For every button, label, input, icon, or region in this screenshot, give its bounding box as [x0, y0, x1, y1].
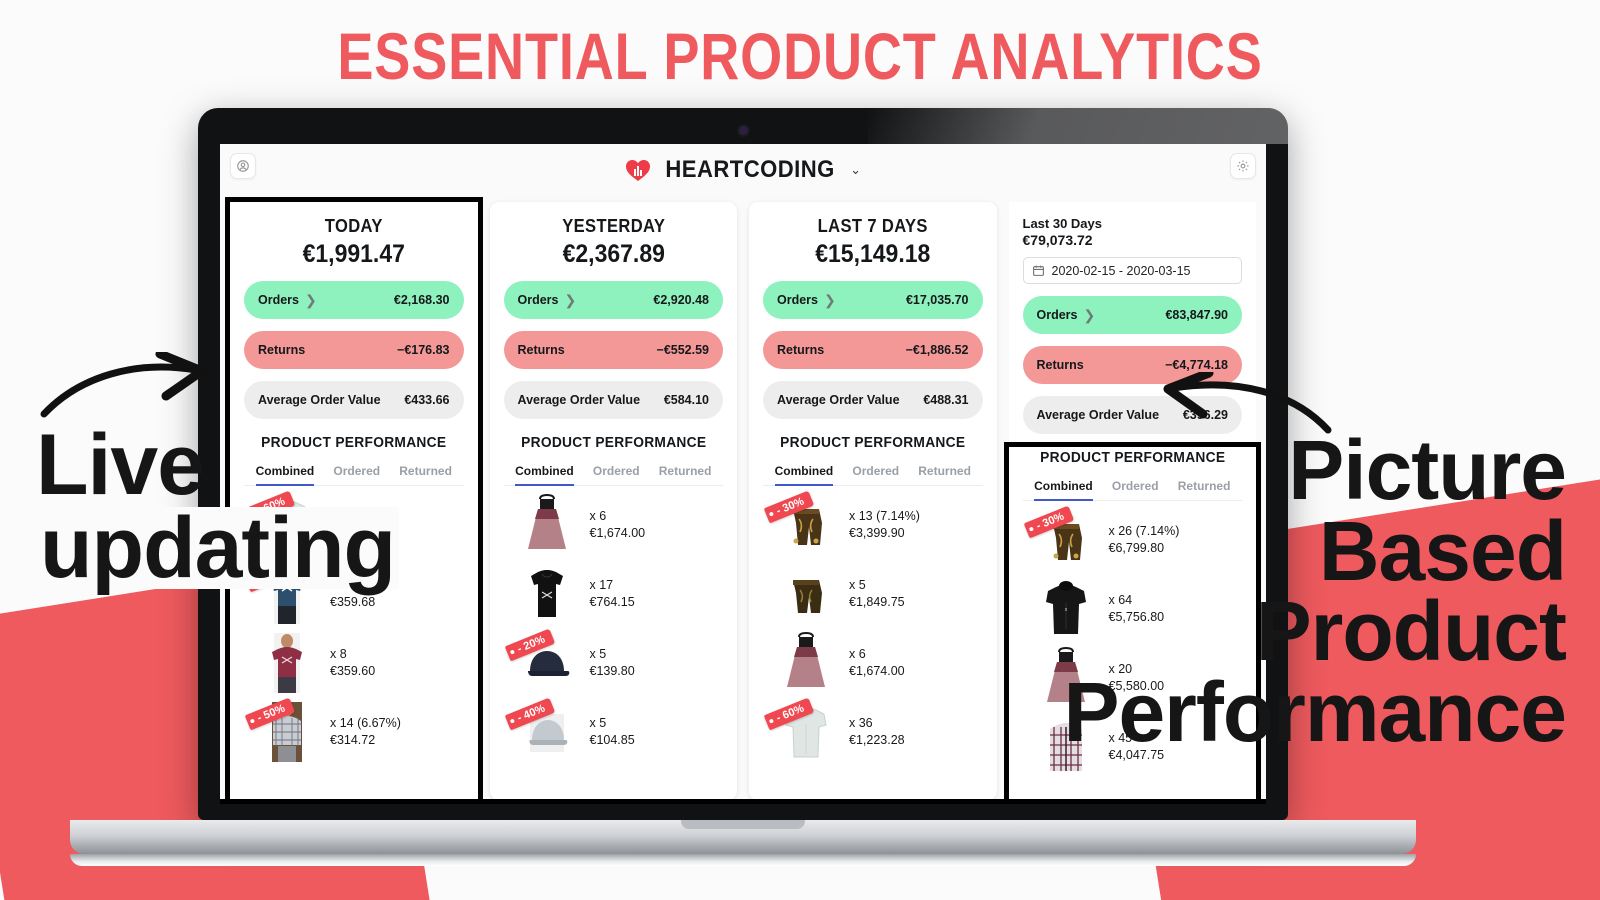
product-revenue: €359.68	[330, 594, 375, 611]
product-revenue: €3,399.90	[849, 525, 920, 542]
gear-icon[interactable]	[1230, 153, 1256, 179]
aov-label: Average Order Value	[777, 393, 900, 407]
product-revenue: €764.15	[590, 594, 635, 611]
card-header: TODAY€1,991.47	[244, 216, 464, 269]
card-header: Last 30 Days€79,073.722020-02-15 - 2020-…	[1023, 216, 1243, 284]
lid-glare	[868, 108, 1288, 144]
product-thumbnail	[763, 560, 849, 628]
tab-ordered[interactable]: Ordered	[852, 464, 899, 486]
annotation-right-line3: Product	[1063, 591, 1566, 672]
screen-bottom-edge	[220, 799, 1266, 804]
orders-stat-row[interactable]: Orders❯€2,168.30	[244, 281, 464, 319]
card-period-title: YESTERDAY	[512, 216, 714, 237]
card-period-total: €1,991.47	[253, 240, 455, 269]
product-quantity: x 17	[590, 577, 635, 594]
webcam-icon	[739, 126, 748, 135]
chevron-right-icon: ❯	[824, 292, 836, 309]
product-revenue: €359.60	[330, 663, 375, 680]
product-quantity: x 5	[590, 715, 635, 732]
product-quantity: x 13 (7.14%)	[849, 508, 920, 525]
product-row[interactable]: x 8€359.60	[244, 628, 464, 697]
aov-value: €488.31	[923, 393, 968, 407]
brand-name: HEARTCODING	[665, 156, 834, 184]
app-header: HEARTCODING ⌄	[220, 144, 1266, 196]
orders-value: €83,847.90	[1165, 308, 1228, 322]
chevron-right-icon: ❯	[565, 292, 577, 309]
returns-label: Returns	[777, 343, 824, 357]
orders-stat-row[interactable]: Orders❯€83,847.90	[1023, 296, 1243, 334]
tab-returned[interactable]: Returned	[918, 464, 971, 486]
card-period-title: LAST 7 DAYS	[772, 216, 974, 237]
aov-label: Average Order Value	[518, 393, 641, 407]
product-performance-tabs: CombinedOrderedReturned	[763, 464, 983, 486]
product-revenue: €1,849.75	[849, 594, 905, 611]
card-header: LAST 7 DAYS€15,149.18	[763, 216, 983, 269]
orders-stat-row[interactable]: Orders❯€17,035.70	[763, 281, 983, 319]
product-thumbnail	[763, 629, 849, 697]
product-quantity: x 6	[590, 508, 646, 525]
date-range-value: 2020-02-15 - 2020-03-15	[1052, 264, 1191, 278]
returns-label: Returns	[518, 343, 565, 357]
orders-value: €17,035.70	[906, 293, 969, 307]
aov-label: Average Order Value	[1037, 408, 1160, 422]
chevron-down-icon[interactable]: ⌄	[850, 162, 861, 178]
product-performance-title: PRODUCT PERFORMANCE	[768, 435, 977, 451]
product-row[interactable]: - 30%x 13 (7.14%)€3,399.90	[763, 490, 983, 559]
annotation-right-line4: Performance	[1063, 672, 1566, 753]
date-range-picker[interactable]: 2020-02-15 - 2020-03-15	[1023, 257, 1243, 284]
tab-ordered[interactable]: Ordered	[593, 464, 640, 486]
arrow-pointing-right-icon	[40, 352, 220, 422]
tab-returned[interactable]: Returned	[659, 464, 712, 486]
orders-value: €2,168.30	[394, 293, 450, 307]
laptop-base-foot	[70, 854, 1416, 866]
returns-stat-row[interactable]: Returns−€552.59	[504, 331, 724, 369]
card-header: YESTERDAY€2,367.89	[504, 216, 724, 269]
orders-stat-row[interactable]: Orders❯€2,920.48	[504, 281, 724, 319]
returns-label: Returns	[258, 343, 305, 357]
product-metrics: x 14 (6.67%)€314.72	[330, 715, 401, 749]
product-revenue: €314.72	[330, 732, 401, 749]
product-thumbnail	[504, 560, 590, 628]
product-metrics: x 6€1,674.00	[849, 646, 905, 680]
product-list: - 30%x 13 (7.14%)€3,399.90x 5€1,849.75x …	[763, 490, 983, 766]
product-quantity: x 36	[849, 715, 905, 732]
card-period-title: Last 30 Days	[1023, 216, 1243, 231]
product-quantity: x 5	[849, 577, 905, 594]
metrics-card: LAST 7 DAYS€15,149.18Orders❯€17,035.70Re…	[749, 202, 997, 800]
product-metrics: x 5€104.85	[590, 715, 635, 749]
chevron-right-icon: ❯	[305, 292, 317, 309]
orders-label: Orders❯	[258, 292, 317, 309]
returns-value: −€176.83	[397, 343, 449, 357]
product-thumbnail: - 20%	[504, 629, 590, 697]
annotation-left-line2: updating	[36, 507, 399, 590]
product-row[interactable]: - 20%x 5€139.80	[504, 628, 724, 697]
orders-value: €2,920.48	[653, 293, 709, 307]
returns-stat-row[interactable]: Returns−€176.83	[244, 331, 464, 369]
returns-value: −€4,774.18	[1165, 358, 1228, 372]
product-revenue: €139.80	[590, 663, 635, 680]
product-metrics: x 13 (7.14%)€3,399.90	[849, 508, 920, 542]
product-revenue: €104.85	[590, 732, 635, 749]
product-quantity: x 5	[590, 646, 635, 663]
product-metrics: x 5€139.80	[590, 646, 635, 680]
product-performance-tabs: CombinedOrderedReturned	[504, 464, 724, 486]
aov-value: €584.10	[664, 393, 709, 407]
product-quantity: x 8	[330, 646, 375, 663]
product-thumbnail: - 30%	[763, 491, 849, 559]
product-revenue: €1,223.28	[849, 732, 905, 749]
product-row[interactable]: x 6€1,674.00	[763, 628, 983, 697]
orders-label: Orders❯	[777, 292, 836, 309]
product-thumbnail: - 40%	[504, 698, 590, 766]
tab-combined[interactable]: Combined	[775, 464, 834, 486]
product-quantity: x 14 (6.67%)	[330, 715, 401, 732]
laptop-base	[70, 820, 1416, 854]
product-metrics: x 8€359.60	[330, 646, 375, 680]
annotation-right-line1: Picture	[1063, 430, 1566, 511]
tab-returned[interactable]: Returned	[399, 464, 452, 486]
chevron-right-icon: ❯	[1084, 307, 1096, 324]
annotation-live-updating: Live updating	[36, 424, 399, 589]
aov-stat-row[interactable]: Average Order Value€488.31	[763, 381, 983, 419]
account-icon[interactable]	[230, 153, 256, 179]
product-row[interactable]: x 5€1,849.75	[763, 559, 983, 628]
returns-stat-row[interactable]: Returns−€1,886.52	[763, 331, 983, 369]
product-thumbnail: - 50%	[244, 698, 330, 766]
card-period-total: €15,149.18	[772, 240, 974, 269]
product-thumbnail	[244, 629, 330, 697]
card-period-title: TODAY	[253, 216, 455, 237]
product-list: x 6€1,674.00x 17€764.15- 20%x 5€139.80- …	[504, 490, 724, 766]
product-row[interactable]: - 60%x 36€1,223.28	[763, 697, 983, 766]
returns-label: Returns	[1037, 358, 1084, 372]
aov-stat-row[interactable]: Average Order Value€433.66	[244, 381, 464, 419]
product-row[interactable]: - 40%x 5€104.85	[504, 697, 724, 766]
product-row[interactable]: x 6€1,674.00	[504, 490, 724, 559]
product-thumbnail: - 60%	[763, 698, 849, 766]
returns-value: −€552.59	[657, 343, 709, 357]
aov-value: €433.66	[404, 393, 449, 407]
card-period-total: €2,367.89	[512, 240, 714, 269]
aov-stat-row[interactable]: Average Order Value€584.10	[504, 381, 724, 419]
aov-label: Average Order Value	[258, 393, 381, 407]
product-revenue: €1,674.00	[849, 663, 905, 680]
product-performance-title: PRODUCT PERFORMANCE	[509, 435, 718, 451]
product-row[interactable]: x 17€764.15	[504, 559, 724, 628]
orders-label: Orders❯	[1037, 307, 1096, 324]
tab-combined[interactable]: Combined	[515, 464, 574, 486]
product-metrics: x 5€1,849.75	[849, 577, 905, 611]
annotation-left-line1: Live	[36, 417, 204, 513]
product-row[interactable]: - 50%x 14 (6.67%)€314.72	[244, 697, 464, 766]
product-revenue: €1,674.00	[590, 525, 646, 542]
orders-label: Orders❯	[518, 292, 577, 309]
annotation-picture-based: Picture Based Product Performance	[1063, 430, 1566, 753]
brand-logo-group[interactable]: HEARTCODING ⌄	[625, 156, 861, 184]
heart-chart-icon	[625, 158, 651, 182]
product-thumbnail	[504, 491, 590, 559]
product-quantity: x 6	[849, 646, 905, 663]
product-metrics: x 6€1,674.00	[590, 508, 646, 542]
returns-value: −€1,886.52	[906, 343, 969, 357]
metrics-card: YESTERDAY€2,367.89Orders❯€2,920.48Return…	[490, 202, 738, 800]
page-title: ESSENTIAL PRODUCT ANALYTICS	[144, 18, 1456, 94]
product-metrics: x 36€1,223.28	[849, 715, 905, 749]
card-period-total: €79,073.72	[1023, 232, 1243, 248]
product-metrics: x 17€764.15	[590, 577, 635, 611]
annotation-right-line2: Based	[1063, 511, 1566, 592]
